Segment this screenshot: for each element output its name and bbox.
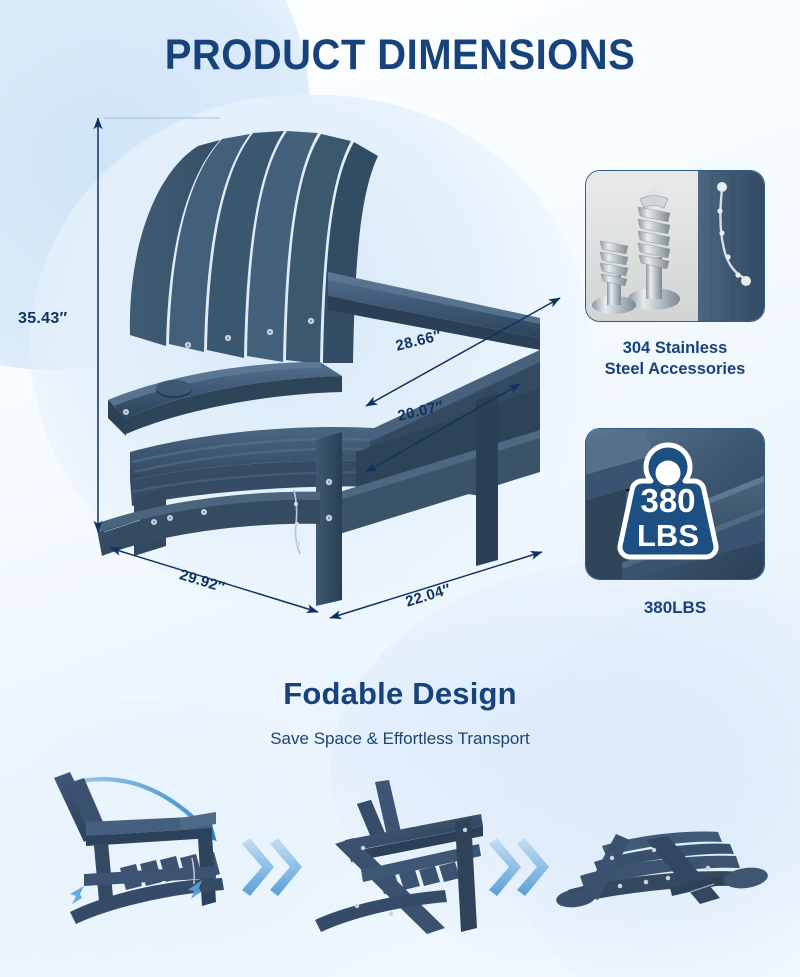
badge-weight-unit: LBS (637, 518, 699, 553)
page-title: PRODUCT DIMENSIONS (28, 34, 772, 77)
fold-stage-closed (550, 806, 785, 936)
chair-backrest (130, 131, 378, 364)
badge-weight-value: 380 (640, 482, 695, 519)
product-illustration (70, 100, 570, 645)
double-chevron-right-icon-2 (487, 838, 553, 896)
caption-line-2: Steel Accessories (605, 360, 746, 378)
fold-stage-mid (305, 778, 500, 938)
caption-line-1: 304 Stainless (623, 339, 728, 357)
foldable-title: Fodable Design (0, 676, 800, 712)
feature-card-stainless (585, 170, 765, 322)
foldable-subtitle: Save Space & Effortless Transport (0, 729, 800, 749)
feature-caption-capacity: 380LBS (570, 597, 780, 619)
chair-arm-left (108, 362, 342, 436)
cup-holder (156, 380, 192, 398)
double-chevron-right-icon-1 (240, 838, 306, 896)
feature-caption-stainless: 304 Stainless Steel Accessories (570, 338, 780, 380)
infographic-page: PRODUCT DIMENSIONS (0, 0, 800, 977)
dimension-label-height: 35.43″ (18, 310, 68, 328)
feature-card-capacity: 380 LBS (585, 428, 765, 580)
